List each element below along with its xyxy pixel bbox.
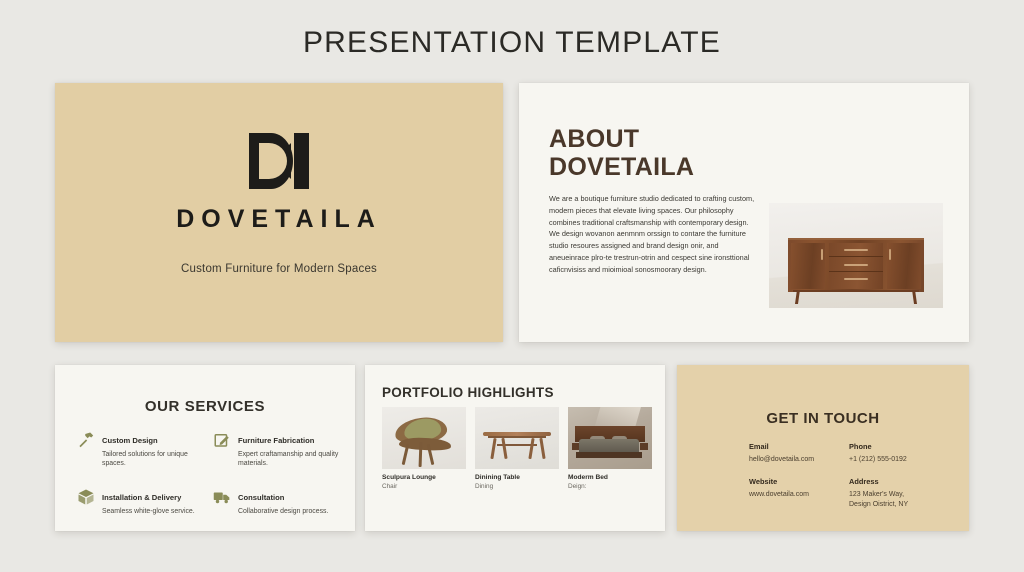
modern-bed-photo: [568, 407, 652, 469]
portfolio-item-title: Dinining Table: [475, 474, 559, 482]
contact-label: Email: [749, 443, 839, 452]
slide-services[interactable]: OUR SERVICES Custom Design Tailored solu…: [55, 365, 355, 531]
portfolio-card-lounge-chair[interactable]: Sculpura Lounge Chair: [382, 407, 466, 491]
services-title: OUR SERVICES: [55, 398, 355, 415]
contact-label: Address: [849, 478, 939, 487]
slide-about[interactable]: ABOUT DOVETAILA We are a boutique furnit…: [519, 83, 969, 342]
slide-portfolio[interactable]: PORTFOLIO HIGHLIGHTS Sculpura Lounge Cha…: [365, 365, 665, 531]
portfolio-item-subtitle: Chair: [382, 483, 466, 491]
contact-field-phone: Phone +1 (212) 555-0192: [849, 443, 939, 464]
contact-field-website: Website www.dovetaila.com: [749, 478, 839, 509]
service-item-custom-design[interactable]: Custom Design Tailored solutions for uni…: [77, 430, 203, 469]
service-item-consultation[interactable]: Consultation Collaborative design proces…: [213, 487, 339, 516]
service-desc: Seamless white-glove service.: [102, 507, 195, 516]
slide-cover[interactable]: DOVETAILA Custom Furniture for Modern Sp…: [55, 83, 503, 342]
contact-field-email: Email hello@dovetaila.com: [749, 443, 839, 464]
about-heading: ABOUT DOVETAILA: [549, 125, 769, 181]
about-heading-line2: DOVETAILA: [549, 153, 769, 181]
service-desc: Expert craftamanship and quality materia…: [238, 450, 339, 469]
contact-field-address: Address 123 Maker's Way, Design Oistrict…: [849, 478, 939, 509]
contact-value[interactable]: www.dovetaila.com: [749, 490, 839, 499]
lounge-chair-photo: [382, 407, 466, 469]
sideboard-door-left: [791, 243, 825, 289]
service-desc: Tailored solutions for unique spaces.: [102, 450, 203, 469]
presentation-template-page: PRESENTATION TEMPLATE DOVETAILA Custom F…: [0, 0, 1024, 572]
services-grid: Custom Design Tailored solutions for uni…: [77, 430, 339, 516]
about-heading-line1: ABOUT: [549, 125, 769, 153]
portfolio-grid: Sculpura Lounge Chair Dinining Table Din…: [382, 407, 652, 491]
portfolio-item-title: Sculpura Lounge: [382, 474, 466, 482]
portfolio-title: PORTFOLIO HIGHLIGHTS: [382, 385, 554, 400]
portfolio-card-modern-bed[interactable]: Moderm Bed Deign:: [568, 407, 652, 491]
contact-value[interactable]: hello@dovetaila.com: [749, 455, 839, 464]
dining-table-photo: [475, 407, 559, 469]
brand-name: DOVETAILA: [55, 205, 503, 234]
portfolio-card-dining-table[interactable]: Dinining Table Dining: [475, 407, 559, 491]
hammer-icon: [77, 431, 95, 449]
brand-tagline: Custom Furniture for Modern Spaces: [55, 263, 503, 275]
service-title: Furniture Fabrication: [238, 436, 314, 445]
service-title: Installation & Delivery: [102, 493, 181, 502]
sideboard-door-right: [887, 243, 921, 289]
portfolio-item-title: Moderm Bed: [568, 474, 652, 482]
contact-label: Phone: [849, 443, 939, 452]
portfolio-item-subtitle: Deign:: [568, 483, 652, 491]
service-item-installation-delivery[interactable]: Installation & Delivery Seamless white-g…: [77, 487, 203, 516]
truck-icon: [213, 488, 231, 506]
portfolio-item-subtitle: Dining: [475, 483, 559, 491]
box-icon: [77, 488, 95, 506]
contact-grid: Email hello@dovetaila.com Phone +1 (212)…: [749, 443, 939, 509]
walnut-sideboard-photo: [769, 203, 943, 308]
sideboard-body: [788, 238, 924, 293]
contact-label: Website: [749, 478, 839, 487]
sideboard-drawers: [829, 243, 883, 289]
service-title: Consultation: [238, 493, 284, 502]
service-item-furniture-fabrication[interactable]: Furniture Fabrication Expert craftamansh…: [213, 430, 339, 469]
slide-contact[interactable]: GET IN TOUCH Email hello@dovetaila.com P…: [677, 365, 969, 531]
contact-value[interactable]: +1 (212) 555-0192: [849, 455, 939, 464]
service-desc: Collaborative design process.: [238, 507, 328, 516]
pencil-square-icon: [213, 431, 231, 449]
contact-title: GET IN TOUCH: [677, 410, 969, 427]
page-title: PRESENTATION TEMPLATE: [0, 26, 1024, 60]
contact-value: 123 Maker's Way, Design Oistrict, NY: [849, 490, 939, 509]
sideboard-legs: [793, 290, 918, 304]
dovetaila-monogram-icon: [55, 131, 503, 191]
about-body-text: We are a boutique furniture studio dedic…: [549, 193, 756, 276]
service-title: Custom Design: [102, 436, 158, 445]
